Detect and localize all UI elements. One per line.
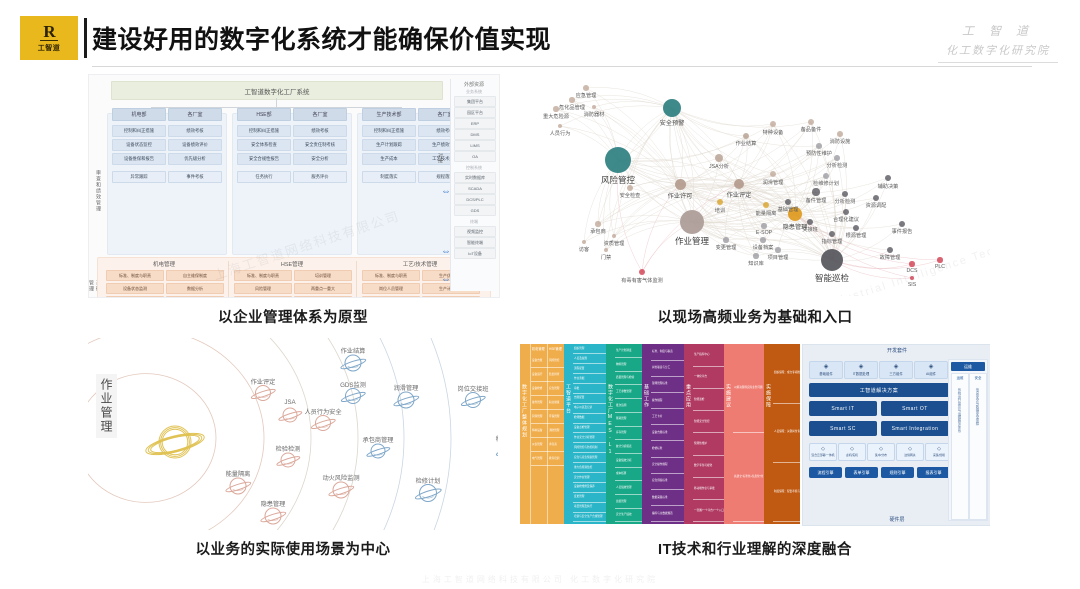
orbit-planet-label: 作业结算: [341, 346, 366, 355]
logo-mark: R: [40, 24, 57, 41]
external-item[interactable]: ERP: [454, 118, 496, 129]
external-item[interactable]: IoT设备: [454, 248, 496, 259]
platform-engine-button[interactable]: 表单引擎: [845, 467, 878, 478]
orbit-center-label: 作业管理: [96, 374, 117, 438]
graph-node[interactable]: [899, 221, 905, 227]
orbit-planet-label: JSA: [284, 399, 295, 406]
panel-knowledge-graph: 应急管理危化品管理重大危险源消防器材人员行为安全预警风险管控安全检查作业许可JS…: [520, 74, 990, 296]
graph-node[interactable]: [675, 179, 686, 190]
matrix-cell: 流程配置: [573, 364, 606, 374]
matrix-cell: 仪表管理: [531, 438, 548, 452]
orbit-planet-label: 润滑管理: [394, 383, 419, 392]
panel-it-fusion: 数字化工厂整体规划机电管理设备台账设备运行设备检修备件管理润滑管理特种设备仪表管…: [520, 338, 990, 530]
q1-cell: 控制和纠正措施: [112, 125, 166, 137]
platform-adapter-chip-label: 混合云部署/一体机: [811, 453, 834, 457]
matrix-column: 工智道平台组织管理人员及权限流程配置作业票据审批台账配置电子仪表及记录检测数据设…: [564, 344, 606, 524]
platform-adapter-chip[interactable]: ◇虚机/实机: [838, 443, 866, 461]
external-group-label: 业务系统: [454, 89, 494, 95]
q1-cell: 生产成本: [362, 153, 416, 165]
graph-node[interactable]: [595, 221, 600, 226]
q1-cell-wide: 任务执行: [237, 171, 291, 183]
q1-dept-head: 各厂室: [168, 108, 222, 121]
caption-q2: 以现场高频业务为基础和入口: [520, 306, 990, 327]
platform-layer-bar[interactable]: Smart Integration: [881, 421, 949, 436]
q1-cell: 控制和纠正措施: [362, 125, 416, 137]
platform-ops-column-head: 运维: [953, 375, 967, 380]
q1-cell: 生产计划跟踪: [362, 139, 416, 151]
orbit-planet-label: GDS监测: [340, 380, 366, 389]
graph-node[interactable]: [680, 210, 704, 234]
platform-layer-bar[interactable]: Smart OT: [881, 401, 949, 416]
platform-top-label: 开发套件: [803, 347, 990, 354]
matrix-cell: 能耗管理: [615, 412, 642, 426]
external-item[interactable]: DMS: [454, 129, 496, 140]
graph-node[interactable]: [775, 247, 780, 252]
external-group-label: 控制系统: [454, 165, 494, 171]
matrix-column: 数字化工厂MES-L1生产计划调度物料管理质量管理与检验工艺参数管理批次追溯能耗…: [606, 344, 642, 524]
platform-kit-chip-label: AI组件: [926, 371, 936, 376]
graph-node-label: 智能巡检: [815, 272, 849, 284]
matrix-cell: 风险管控与防控机制: [573, 443, 606, 453]
page-title: 建设好用的数字化系统才能确保价值实现: [92, 20, 551, 56]
matrix-cell: 台账配置: [573, 393, 606, 403]
graph-node-label: 消防器材: [584, 111, 605, 118]
matrix-cell: 人员绩效管理: [615, 481, 642, 495]
graph-node[interactable]: [909, 261, 914, 266]
matrix-cell: 承包商: [548, 438, 564, 452]
platform-kit-chip[interactable]: ◈IT数据处理: [844, 361, 878, 379]
graph-node-label: 特种设备: [763, 129, 784, 136]
platform-kit-chip[interactable]: ◈基础组件: [809, 361, 843, 379]
matrix-column-label: 基础工作: [643, 384, 650, 408]
graph-node-label: 基础管理: [778, 206, 799, 213]
platform-adapter-chip-label: 采集/终端: [933, 453, 945, 457]
matrix-column-label: 重点应用: [685, 384, 692, 408]
external-item[interactable]: OA: [454, 151, 496, 162]
cloud-icon: ◇: [821, 447, 825, 452]
orbit-planet[interactable]: [258, 505, 288, 528]
matrix-cell: 职业健康: [548, 396, 564, 410]
q1-section-item: 培训管理: [294, 270, 352, 281]
q1-section-item: 设备状态监测: [106, 283, 164, 294]
graph-node[interactable]: [807, 219, 813, 225]
q1-section-item: 总控调度: [362, 296, 420, 298]
matrix-cell: 智能巡检: [693, 389, 724, 412]
external-item[interactable]: 实时数据库: [454, 172, 496, 183]
matrix-cell: 组织管理: [573, 344, 606, 354]
q1-section-title: 机电管理: [104, 260, 224, 268]
header-watermark-rule: [938, 62, 1058, 63]
matrix-cells: 组织保障：成立专项推进小组人员保障：关键岗位专职配置制度保障：配套考核与运维机制: [773, 344, 800, 524]
matrix-cell: 先建立“标准化+信息化”的管理基础，再逐步向智能化、数字孪生方向演进，避免“建而…: [733, 433, 764, 522]
graph-node[interactable]: [843, 209, 849, 215]
matrix-cell: 生产指挥中心: [693, 344, 724, 367]
flask-icon: ◈: [894, 364, 899, 370]
graph-node-label: SIS: [908, 282, 916, 288]
q1-cell: 安全责任制考核: [293, 139, 347, 151]
external-item[interactable]: 智能终端: [454, 237, 496, 248]
platform-adapter-chip-label: 虚机/实机: [846, 453, 858, 457]
graph-node-label: PLC: [935, 264, 945, 270]
graph-node-label: 承包商: [590, 228, 606, 235]
graph-node-label: 安全预警: [660, 118, 685, 127]
header-watermark: 工 智 道 化工数字化研究院: [938, 22, 1058, 63]
graph-node[interactable]: [743, 133, 749, 139]
graph-node[interactable]: [873, 195, 879, 201]
matrix-cell: 设备点检管理: [573, 423, 606, 433]
graph-node[interactable]: [823, 173, 829, 179]
matrix-column-label: 数字化工厂整体规划: [521, 384, 528, 438]
matrix-cell: 一张图/一个平台/一个入口: [693, 500, 724, 523]
matrix-cell: 检修标准: [651, 441, 684, 458]
header-watermark-line1: 工 智 道: [938, 22, 1058, 39]
external-item[interactable]: SCADA: [454, 183, 496, 194]
matrix-cell: 物料管理: [615, 358, 642, 372]
matrix-subcolumn: 机电管理设备台账设备运行设备检修备件管理润滑管理特种设备仪表管理电气管理: [530, 344, 548, 524]
platform-adapter-chip[interactable]: ◇集中/分布: [867, 443, 895, 461]
matrix-cell: 安全生产绩效: [615, 508, 642, 522]
orbit-planet[interactable]: [391, 389, 421, 412]
graph-node[interactable]: [937, 257, 942, 262]
matrix-cell: 操作规程: [651, 393, 684, 410]
graph-node-label: E-SOP: [756, 230, 772, 236]
q1-cell-wide: 异常跟踪: [112, 171, 166, 183]
graph-node[interactable]: [816, 143, 822, 149]
caption-q3: 以业务的实际使用场景为中心: [88, 538, 498, 559]
graph-node[interactable]: [761, 223, 766, 228]
matrix-cell: 库存管理: [615, 426, 642, 440]
matrix-cell: 设备台账标准: [651, 425, 684, 442]
matrix-cell: 班组管理: [615, 495, 642, 509]
graph-node[interactable]: [553, 106, 558, 111]
orbit-planet-label: 能量隔离: [226, 469, 251, 478]
q1-dept-head: HSE部: [237, 108, 291, 121]
matrix-cell: 隐患排查: [548, 368, 564, 382]
matrix-cell: 岗位职责与分工: [651, 360, 684, 377]
matrix-cell: 润滑管理: [531, 410, 548, 424]
graph-node[interactable]: [812, 188, 819, 195]
matrix-cell: 批次追溯: [615, 399, 642, 413]
title-accent-rule: [84, 18, 87, 58]
graph-node-label: 预防性维护: [806, 150, 832, 157]
footer-watermark: 上海工智道网络科技有限公司 化工数字化研究院: [0, 574, 1080, 585]
graph-node[interactable]: [734, 179, 744, 189]
solution-bar: 工智道解决方案: [809, 383, 949, 397]
graph-node[interactable]: [715, 154, 723, 162]
caption-q1: 以企业管理体系为原型: [88, 306, 498, 327]
gear-icon: ◇: [850, 447, 854, 452]
graph-node-label: 润滑管理: [763, 179, 784, 186]
matrix-cell: 电气管理: [531, 452, 548, 466]
matrix-cell: 应急管理: [548, 382, 564, 396]
matrix-cell: 特种设备: [531, 424, 548, 438]
orbit-planet[interactable]: [276, 404, 304, 425]
q1-cell: 优先级分析: [168, 153, 222, 165]
platform-kit-chip-label: 基础组件: [819, 371, 833, 376]
graph-node-label: 故障管理: [880, 254, 901, 261]
graph-node-label: 交接班: [802, 226, 818, 233]
platform-adapter-chip-label: 边缘网关: [904, 453, 915, 457]
platform-kit-chip-label: IT数据处理: [853, 371, 870, 376]
platform-adapter-chip[interactable]: ◇混合云部署/一体机: [809, 443, 837, 461]
matrix-column-label: 数字化工厂MES-L1: [607, 384, 614, 456]
platform-engine-button[interactable]: 报表引擎: [917, 467, 950, 478]
orbit-planet-label: 移动监控: [496, 434, 498, 443]
divider: [356, 261, 357, 298]
graph-node[interactable]: [829, 231, 835, 237]
graph-node[interactable]: [663, 99, 681, 117]
graph-node[interactable]: [834, 155, 840, 161]
matrix-column: 实施保障组织保障：成立专项推进小组人员保障：关键岗位专职配置制度保障：配套考核与…: [764, 344, 800, 524]
matrix-column: 数字化工厂整体规划机电管理设备台账设备运行设备检修备件管理润滑管理特种设备仪表管…: [520, 344, 564, 524]
q1-dept-head: 各厂室: [293, 108, 347, 121]
caption-q4: IT技术和行业理解的深度融合: [520, 538, 990, 559]
graph-node-label: 应急管理: [576, 92, 597, 99]
matrix-cell: 现场管理标准: [651, 376, 684, 393]
matrix-cell: 设备检修: [531, 382, 548, 396]
graph-node-label: 合理化建议: [833, 216, 859, 223]
header-watermark-line2: 化工数字化研究院: [938, 42, 1058, 58]
q1-cell-wide: 事件考核: [168, 171, 222, 183]
orbit-planet-label: 人员行为安全: [304, 407, 341, 416]
matrix-cells: 组织管理人员及权限流程配置作业票据审批台账配置电子仪表及记录检测数据设备点检管理…: [573, 344, 606, 524]
platform-kit-chip[interactable]: ◈AI组件: [914, 361, 948, 379]
matrix-cell: 预测性维护: [693, 433, 724, 456]
graph-node-label: 有毒有害气体监测: [621, 277, 663, 284]
platform-ops-title: 运维: [951, 362, 985, 371]
matrix-cell: 审批: [573, 384, 606, 394]
matrix-cell: 应急与应急预案管理: [573, 453, 606, 463]
matrix-cell: 组织保障：成立专项推进小组: [773, 344, 800, 404]
orbit-planet[interactable]: [223, 475, 253, 498]
graph-node[interactable]: [808, 119, 814, 125]
panel-enterprise-architecture: 工智道数字化工厂系统 审查和绩效管理 基础管理 机电部各厂室控制和纠正措施设备状…: [88, 74, 500, 298]
graph-node[interactable]: [753, 253, 758, 258]
graph-node-label: 能量隔离: [756, 210, 777, 217]
q1-cell: 绩效考核: [293, 125, 347, 137]
q1-cell: 安全合规性报告: [237, 153, 291, 165]
logo-subtitle: 工智道: [38, 43, 61, 53]
graph-node-label: 备品备件: [801, 126, 822, 133]
external-item[interactable]: GDS: [454, 205, 496, 216]
platform-adapter-chip[interactable]: ◇边缘网关: [896, 443, 924, 461]
graph-node-label: 指标管理: [822, 238, 843, 245]
graph-node-label: 资源调配: [866, 202, 887, 209]
graph-node-label: 辅助决策: [878, 183, 899, 190]
matrix-cell: 风险管控: [548, 354, 564, 368]
matrix-cell: 编码与主数据规范: [651, 506, 684, 523]
matrix-cells: 标准、制度与职责岗位职责与分工现场管理标准操作规程工艺卡片设备台账标准检修标准安…: [651, 344, 684, 524]
graph-node[interactable]: [785, 199, 791, 205]
matrix-cell: 设备检维修及保养: [573, 482, 606, 492]
matrix-cell: 人员保障：关键岗位专职配置: [773, 403, 800, 463]
slide-header: R 工智道 建设好用的数字化系统才能确保价值实现 工 智 道 化工数字化研究院: [0, 0, 1080, 68]
header-divider: [92, 66, 1032, 67]
q1-right-label: 对接: [437, 153, 444, 163]
platform-layer-bar[interactable]: Smart SC: [809, 421, 877, 436]
matrix-subcolumn: HSE管理风险管控隐患排查应急管理职业健康环保管理消防管理承包商教育培训: [547, 344, 564, 524]
graph-node-label: 项目管理: [768, 254, 789, 261]
matrix-cell: 作业票据: [573, 374, 606, 384]
matrix-cell: 作业安全分析管理: [573, 433, 606, 443]
platform-ops-column-text: 信息安全与数据安全保障: [975, 388, 980, 425]
external-resources-column: 外部资源 业务系统集团平台园区平台ERPDMSLIMSOA控制系统实时数据库SC…: [450, 79, 497, 291]
q1-dept-head: 机电部: [112, 108, 166, 121]
matrix-cells: 以解决现场实际业务问题为出发点，按照统一规划分步实施的原则推进建设先建立“标准化…: [733, 344, 764, 524]
matrix-cell: 以解决现场实际业务问题为出发点，按照统一规划分步实施的原则推进建设: [733, 344, 764, 433]
company-logo: R 工智道: [20, 16, 78, 60]
matrix-column-label: 实施保障: [765, 384, 772, 408]
external-resources-title: 外部资源: [451, 81, 497, 88]
matrix-cell: 智能安全管控: [693, 411, 724, 434]
graph-node-label: 作业结算: [736, 140, 757, 147]
graph-node-label: 人员行为: [550, 130, 571, 137]
matrix-cell: 生产计划调度: [615, 344, 642, 358]
platform-kit-chip-label: 三方组件: [889, 371, 903, 376]
graph-node-label: 安全检查: [620, 192, 641, 199]
matrix-cell: 制度保障：配套考核与运维机制: [773, 463, 800, 523]
q1-cell-wide: 制度落实: [362, 171, 416, 183]
matrix-cell: 人员及权限: [573, 354, 606, 364]
external-item[interactable]: 视频监控: [454, 226, 496, 237]
q1-cell-wide: 服务评价: [293, 171, 347, 183]
matrix-column-label: 实施建议: [725, 384, 732, 408]
net-icon: ◇: [879, 447, 883, 452]
matrix-column: 基础工作标准、制度与职责岗位职责与分工现场管理标准操作规程工艺卡片设备台账标准检…: [642, 344, 684, 524]
q1-section-item: 润滑管理: [106, 296, 164, 298]
graph-node[interactable]: [583, 85, 589, 91]
orbit-planet-label: 承包商管理: [363, 435, 394, 444]
q1-section-item: 质量标准管理: [422, 296, 480, 298]
matrix-cell: 工艺参数管理: [615, 385, 642, 399]
sync-arrow-icon: ⇔: [441, 247, 451, 257]
q1-cell: 控制和纠正措施: [237, 125, 291, 137]
platform-engine-button[interactable]: 流程引擎: [809, 467, 842, 478]
matrix-cells: 生产指挥中心一体化平台智能巡检智能安全管控预测性维护数字孪生可视化移动端作业与审…: [693, 344, 724, 524]
platform-engine-button[interactable]: 规则引擎: [881, 467, 914, 478]
graph-node-label: 重大危险源: [543, 113, 569, 120]
orbit-planet[interactable]: [326, 479, 356, 502]
q1-cell: 安全体系检查: [237, 139, 291, 151]
external-item[interactable]: 集团平台: [454, 96, 496, 107]
matrix-cell: 质量管理与检验: [615, 371, 642, 385]
platform-kit-chip[interactable]: ◈三方组件: [879, 361, 913, 379]
graph-node[interactable]: [887, 247, 893, 253]
shield-icon: ◇: [908, 447, 912, 452]
q1-section-item: 标准、制度与职责: [106, 270, 164, 281]
graph-node-label: 门禁: [601, 254, 611, 261]
graph-node-label: 培训: [715, 207, 725, 214]
q1-domain-sections: 机电管理标准、制度与职责自主维保制度设备状态监测数据分析润滑管理设备备件/库存管…: [97, 257, 491, 298]
cube-icon: ◈: [824, 364, 829, 370]
graph-node[interactable]: [569, 97, 574, 102]
graph-node-label: DCS: [907, 268, 918, 274]
sync-arrow-icon: ⇔: [441, 275, 451, 285]
q1-section-item: 风险管理: [234, 283, 292, 294]
graph-node-label: 设备档案: [753, 244, 774, 251]
matrix-cell: 数字孪生可视化: [693, 455, 724, 478]
platform-ops-panel: 运维 运维系统运行监控与运维服务体系安全信息安全与数据安全保障: [948, 359, 988, 521]
orbit-planet-label: 检修计划: [416, 476, 441, 485]
cloud-icon: ◈: [929, 364, 934, 370]
divider: [228, 261, 229, 298]
q1-dept-head: 生产技术部: [362, 108, 416, 121]
platform-layer-bar[interactable]: Smart IT: [809, 401, 877, 416]
matrix-cell: 培训与安全生产合规管理: [573, 512, 606, 522]
matrix-cell: 消防管理: [548, 424, 564, 438]
graph-node-label: 知识库: [748, 260, 764, 267]
q1-section-title: HSE管理: [232, 260, 352, 268]
graph-node[interactable]: [821, 249, 843, 271]
graph-node[interactable]: [760, 237, 765, 242]
matrix-cell: 电子仪表及记录: [573, 403, 606, 413]
graph-node[interactable]: [853, 225, 859, 231]
q1-cell: 绩效考核: [168, 125, 222, 137]
orbit-planet[interactable]: [413, 481, 444, 505]
matrix-cell: 工艺卡片: [651, 409, 684, 426]
orbit-planet-label: 动火风险监测: [322, 473, 359, 482]
sync-arrow-icon: ⇔: [441, 187, 451, 197]
matrix-cell: 安全操作规程: [651, 457, 684, 474]
graph-node[interactable]: [605, 147, 631, 173]
matrix-cell: 数据采集标准: [651, 490, 684, 507]
matrix-cell: 统计分析报表: [615, 440, 642, 454]
graph-node-label: 作业评定: [727, 190, 752, 199]
q1-section-item: 双重预防机制: [234, 296, 292, 298]
graph-node[interactable]: [627, 185, 633, 191]
external-item[interactable]: 园区平台: [454, 107, 496, 118]
matrix-cell: 应急预案标准: [651, 473, 684, 490]
graph-node-label: JSA分析: [709, 163, 729, 170]
matrix-cell: 变更管理: [573, 492, 606, 502]
graph-node-label: 变更管理: [716, 244, 737, 251]
orbit-planet-label: 隐患管理: [261, 499, 286, 508]
matrix-column: 实施建议以解决现场实际业务问题为出发点，按照统一规划分步实施的原则推进建设先建立…: [724, 344, 764, 524]
graph-node[interactable]: [837, 131, 843, 137]
graph-node-label: 事件报告: [892, 228, 913, 235]
orbit-planet[interactable]: [338, 352, 368, 375]
q1-cell: 设备绩效评价: [168, 139, 222, 151]
matrix-cell: 成本核算: [615, 467, 642, 481]
matrix-column-label: 工智道平台: [565, 384, 572, 414]
platform-ops-column-head: 安全: [971, 375, 985, 380]
q1-section-item: 岗位人员管理: [362, 283, 420, 294]
slide-root: R 工智道 建设好用的数字化系统才能确保价值实现 工 智 道 化工数字化研究院 …: [0, 0, 1080, 589]
platform-ops-column-text: 系统运行监控与运维服务体系: [957, 388, 962, 432]
external-item[interactable]: LIMS: [454, 140, 496, 151]
q1-left-label-top: 审查和绩效管理: [92, 170, 102, 212]
graph-node-label: 资质管理: [604, 240, 625, 247]
matrix-subcolumn-label: 机电管理: [532, 346, 545, 351]
matrix-cell: 设备绩效分析: [615, 454, 642, 468]
panel-orbit-scenarios: 作业管理 作业结算作业评定JSAGDS监测润滑管理岗位交接班人员行为安全承包商管…: [88, 338, 498, 530]
matrix-cell: 备件管理: [531, 396, 548, 410]
graph-node[interactable]: [842, 191, 848, 197]
graph-node-label: 作业管理: [675, 235, 709, 247]
q1-section-item: 标准、制度与职责: [234, 270, 292, 281]
matrix-cell: 重大危险源监控: [573, 463, 606, 473]
q1-section-item: 自主维保制度: [166, 270, 224, 281]
graph-node-label: 根源管理: [846, 232, 867, 239]
matrix-cell: 设备台账: [531, 354, 548, 368]
graph-node-label: 分析检测: [835, 198, 856, 205]
graph-node[interactable]: [723, 237, 728, 242]
chip-icon: ◇: [937, 447, 941, 452]
orbit-planet-label: 作业评定: [251, 377, 276, 386]
external-item[interactable]: DCS/PLC: [454, 194, 496, 205]
connector: [276, 98, 277, 107]
platform-ops-column: 运维系统运行监控与运维服务体系: [951, 373, 969, 520]
